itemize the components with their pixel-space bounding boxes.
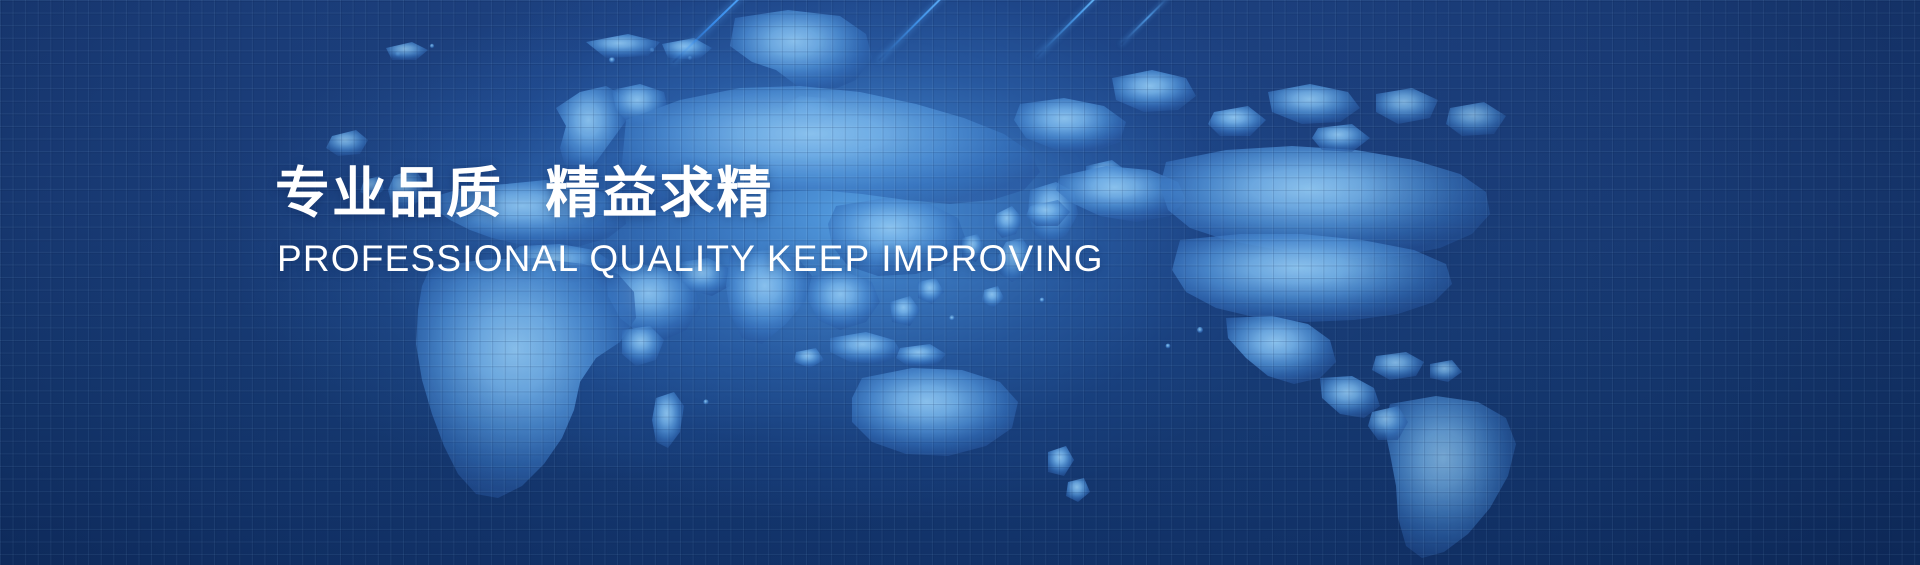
headline-english: PROFESSIONAL QUALITY KEEP IMPROVING: [277, 237, 1104, 281]
headline-chinese: 专业品质 精益求精: [275, 158, 1104, 228]
world-map-graphic: [0, 0, 1920, 565]
hero-banner: 专业品质 精益求精 PROFESSIONAL QUALITY KEEP IMPR…: [0, 0, 1920, 565]
headline-block: 专业品质 精益求精 PROFESSIONAL QUALITY KEEP IMPR…: [275, 158, 1104, 281]
